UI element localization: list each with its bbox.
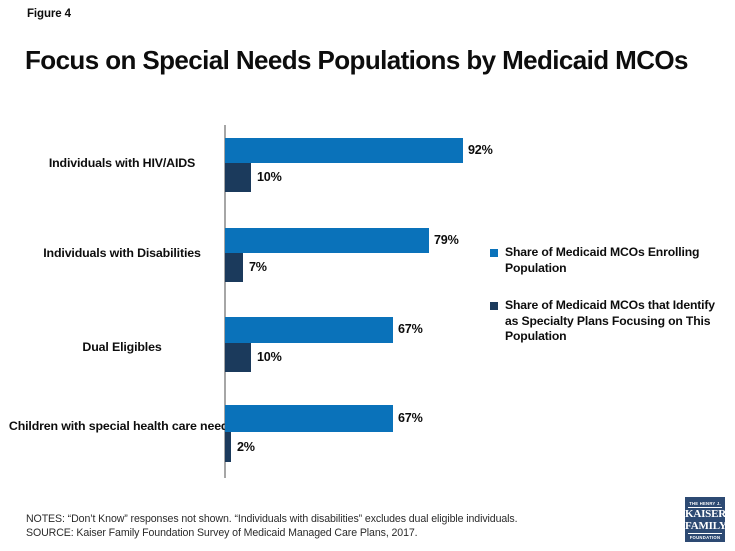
- logo-rule-bottom: [688, 533, 722, 534]
- legend-swatch-enrolling-icon: [490, 249, 498, 257]
- legend-swatch-specialty-icon: [490, 302, 498, 310]
- bar-value-label: 67%: [398, 322, 423, 336]
- bar-enrolling: [225, 228, 429, 253]
- bar-value-label: 79%: [434, 233, 459, 247]
- bar-value-label: 67%: [398, 411, 423, 425]
- category-label: Children with special health care needs: [7, 418, 237, 434]
- bar-value-label: 10%: [257, 350, 282, 364]
- footer-notes: NOTES: “Don’t Know” responses not shown.…: [26, 513, 517, 540]
- category-label: Individuals with HIV/AIDS: [7, 155, 237, 171]
- logo-line-kaiser: KAISER: [685, 509, 725, 521]
- logo-line-family: FAMILY: [685, 521, 725, 533]
- legend-item-specialty[interactable]: Share of Medicaid MCOs that Identify as …: [489, 298, 725, 345]
- category-label: Dual Eligibles: [7, 339, 237, 355]
- bar-value-label: 10%: [257, 170, 282, 184]
- bar-value-label: 2%: [237, 440, 255, 454]
- bar-specialty: [225, 253, 243, 282]
- footer-source-line: SOURCE: Kaiser Family Foundation Survey …: [26, 527, 517, 541]
- bar-specialty: [225, 343, 251, 372]
- kaiser-family-foundation-logo: THE HENRY J. KAISER FAMILY FOUNDATION: [684, 496, 726, 543]
- bar-enrolling: [225, 138, 463, 163]
- bar-specialty: [225, 432, 231, 462]
- bar-specialty: [225, 163, 251, 192]
- bar-value-label: 92%: [468, 143, 493, 157]
- logo-line-foundation: FOUNDATION: [685, 535, 725, 541]
- footer-notes-line: NOTES: “Don’t Know” responses not shown.…: [26, 513, 517, 527]
- bar-enrolling: [225, 317, 393, 343]
- bar-enrolling: [225, 405, 393, 432]
- logo-line-henry-j: THE HENRY J.: [685, 501, 725, 506]
- legend-item-enrolling[interactable]: Share of Medicaid MCOs Enrolling Populat…: [489, 245, 725, 276]
- legend-item-label: Share of Medicaid MCOs Enrolling Populat…: [505, 245, 699, 275]
- bar-value-label: 7%: [249, 260, 267, 274]
- chart-legend: Share of Medicaid MCOs Enrolling Populat…: [489, 245, 725, 367]
- legend-item-label: Share of Medicaid MCOs that Identify as …: [505, 298, 715, 343]
- category-label: Individuals with Disabilities: [7, 245, 237, 261]
